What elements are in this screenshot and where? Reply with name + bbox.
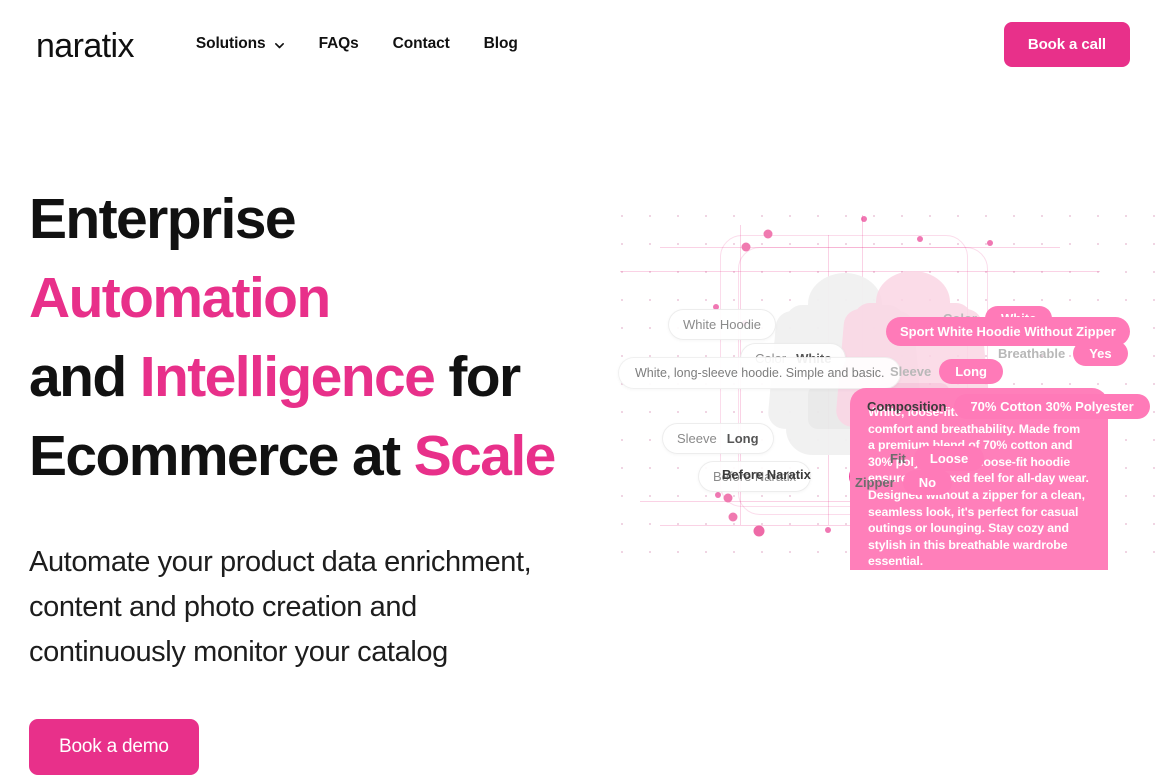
book-a-demo-button[interactable]: Book a demo [29,719,199,775]
chip-value: 70% Cotton 30% Polyester [954,394,1149,419]
frame-handle-dot[interactable] [917,236,923,242]
chip-key: Breathable [998,347,1065,360]
chip-before-sleeve: Sleeve Long [662,423,774,454]
nav-item-label: FAQs [319,35,359,53]
frame-handle-dot[interactable] [742,243,751,252]
nav-item-contact[interactable]: Contact [393,35,450,53]
chip-value: Loose [914,446,984,471]
chip-value: Sport White Hoodie Without Zipper [900,325,1116,338]
nav-item-blog[interactable]: Blog [484,35,518,53]
chip-key: Fit [890,452,906,465]
chip-value: White Hoodie [683,318,761,331]
headline-seg-3: and [29,345,140,409]
hero-copy: Enterprise Automation and Intelligence f… [29,180,589,775]
headline-seg-2: Automation [29,266,330,330]
brand-logo[interactable]: naratix [36,29,134,63]
frame-handle-dot[interactable] [861,216,867,222]
site-header: naratix Solutions FAQs Contact Blog Book… [0,0,1160,88]
headline-seg-7: Scale [414,424,555,488]
primary-nav: Solutions FAQs Contact Blog [196,35,518,53]
nav-item-solutions[interactable]: Solutions [196,35,285,53]
headline-seg-1: Enterprise [29,187,295,251]
chip-before-title: White Hoodie [668,309,776,340]
nav-item-faqs[interactable]: FAQs [319,35,359,53]
description-before: White, long-sleeve hoodie. Simple and ba… [618,357,901,389]
book-a-call-button[interactable]: Book a call [1004,22,1130,67]
chip-key: Composition [867,400,946,413]
headline-seg-6: Ecommerce at [29,424,414,488]
chip-after-composition: Composition 70% Cotton 30% Polyester [867,394,1150,419]
frame-handle-dot[interactable] [825,527,831,533]
frame-handle-dot[interactable] [715,492,721,498]
frame-handle-dot[interactable] [754,526,765,537]
hero-illustration: Before Naratix Before Naratix White Hood… [600,195,1160,570]
chip-value: Long [727,432,759,445]
chip-after-sleeve: Sleeve Long [890,359,1003,384]
chip-key: Sleeve [890,365,931,378]
chip-after-breathable: Breathable Yes [998,341,1128,366]
nav-item-label: Contact [393,35,450,53]
headline-seg-4: Intelligence [140,345,434,409]
chevron-down-icon [274,40,285,51]
hero-subhead: Automate your product data enrichment, c… [29,540,574,675]
headline-seg-5: for [434,345,519,409]
chip-value: No [903,470,952,495]
badge-before-naratix-ghost: Before Naratix [722,467,811,482]
frame-handle-dot[interactable] [729,513,738,522]
chip-after-zipper: Zipper No [855,470,952,495]
frame-handle-dot[interactable] [764,230,773,239]
page-title: Enterprise Automation and Intelligence f… [29,180,589,496]
frame-handle-dot[interactable] [987,240,993,246]
frame-handle-dot[interactable] [724,494,733,503]
chip-key: Zipper [855,476,895,489]
chip-value: Yes [1073,341,1127,366]
nav-item-label: Solutions [196,35,266,53]
nav-item-label: Blog [484,35,518,53]
chip-value: Long [939,359,1003,384]
chip-after-fit: Fit Loose [890,446,984,471]
chip-key: Sleeve [677,432,717,445]
